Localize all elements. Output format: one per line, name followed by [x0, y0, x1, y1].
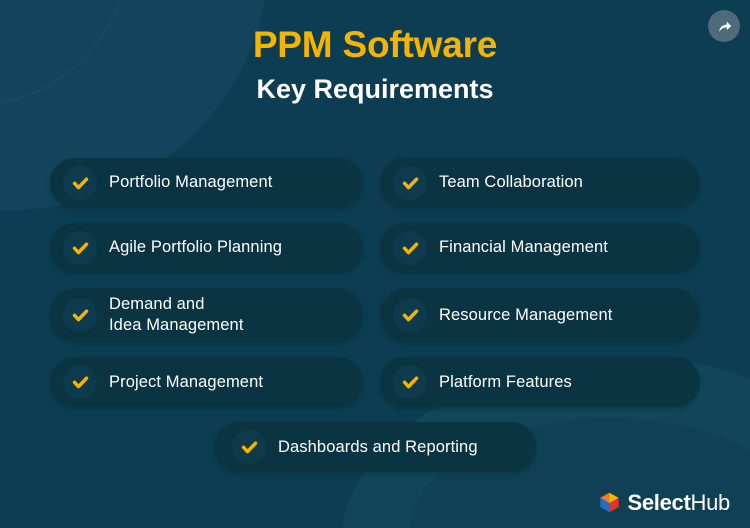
share-button[interactable] — [708, 10, 740, 42]
requirements-row-5: Dashboards and Reporting — [0, 422, 750, 472]
check-icon — [393, 231, 427, 265]
share-arrow-icon — [716, 18, 733, 35]
requirements-row-2: Agile Portfolio Planning Financial Manag… — [0, 223, 750, 273]
requirement-card-agile-portfolio-planning[interactable]: Agile Portfolio Planning — [50, 223, 363, 273]
requirements-row-1: Portfolio Management Team Collaboration — [0, 158, 750, 208]
requirement-card-project-management[interactable]: Project Management — [50, 357, 363, 407]
requirement-label: Dashboards and Reporting — [278, 437, 478, 458]
selecthub-cube-icon — [598, 491, 621, 514]
requirement-card-financial-management[interactable]: Financial Management — [380, 223, 700, 273]
requirement-card-resource-management[interactable]: Resource Management — [380, 288, 700, 342]
requirement-label: Agile Portfolio Planning — [109, 237, 282, 258]
infographic-canvas: PPM Software Key Requirements Portfolio … — [0, 0, 750, 528]
check-icon — [63, 298, 97, 332]
check-icon — [63, 231, 97, 265]
selecthub-logo[interactable]: SelectHub — [598, 491, 731, 514]
check-icon — [63, 365, 97, 399]
logo-name-bold: Select — [628, 490, 691, 515]
check-icon — [393, 365, 427, 399]
requirement-card-team-collaboration[interactable]: Team Collaboration — [380, 158, 700, 208]
requirements-row-4: Project Management Platform Features — [0, 357, 750, 407]
requirement-card-dashboards-and-reporting[interactable]: Dashboards and Reporting — [214, 422, 536, 472]
check-icon — [232, 430, 266, 464]
page-subtitle: Key Requirements — [0, 75, 750, 105]
requirement-label: Resource Management — [439, 305, 612, 326]
requirement-card-demand-and-idea-management[interactable]: Demand and Idea Management — [50, 288, 363, 342]
check-icon — [393, 166, 427, 200]
logo-name-light: Hub — [691, 490, 730, 515]
header: PPM Software Key Requirements — [0, 26, 750, 105]
check-icon — [393, 298, 427, 332]
requirement-label: Platform Features — [439, 372, 572, 393]
requirement-label: Financial Management — [439, 237, 608, 258]
check-icon — [63, 166, 97, 200]
requirements-grid: Portfolio Management Team Collaboration — [0, 158, 750, 472]
page-title: PPM Software — [0, 26, 750, 65]
requirement-label: Team Collaboration — [439, 172, 583, 193]
selecthub-wordmark: SelectHub — [628, 492, 731, 514]
requirement-card-portfolio-management[interactable]: Portfolio Management — [50, 158, 363, 208]
requirement-label: Project Management — [109, 372, 263, 393]
requirement-label: Portfolio Management — [109, 172, 272, 193]
requirement-label: Demand and Idea Management — [109, 294, 244, 336]
requirements-row-3: Demand and Idea Management Resource Mana… — [0, 288, 750, 342]
requirement-card-platform-features[interactable]: Platform Features — [380, 357, 700, 407]
